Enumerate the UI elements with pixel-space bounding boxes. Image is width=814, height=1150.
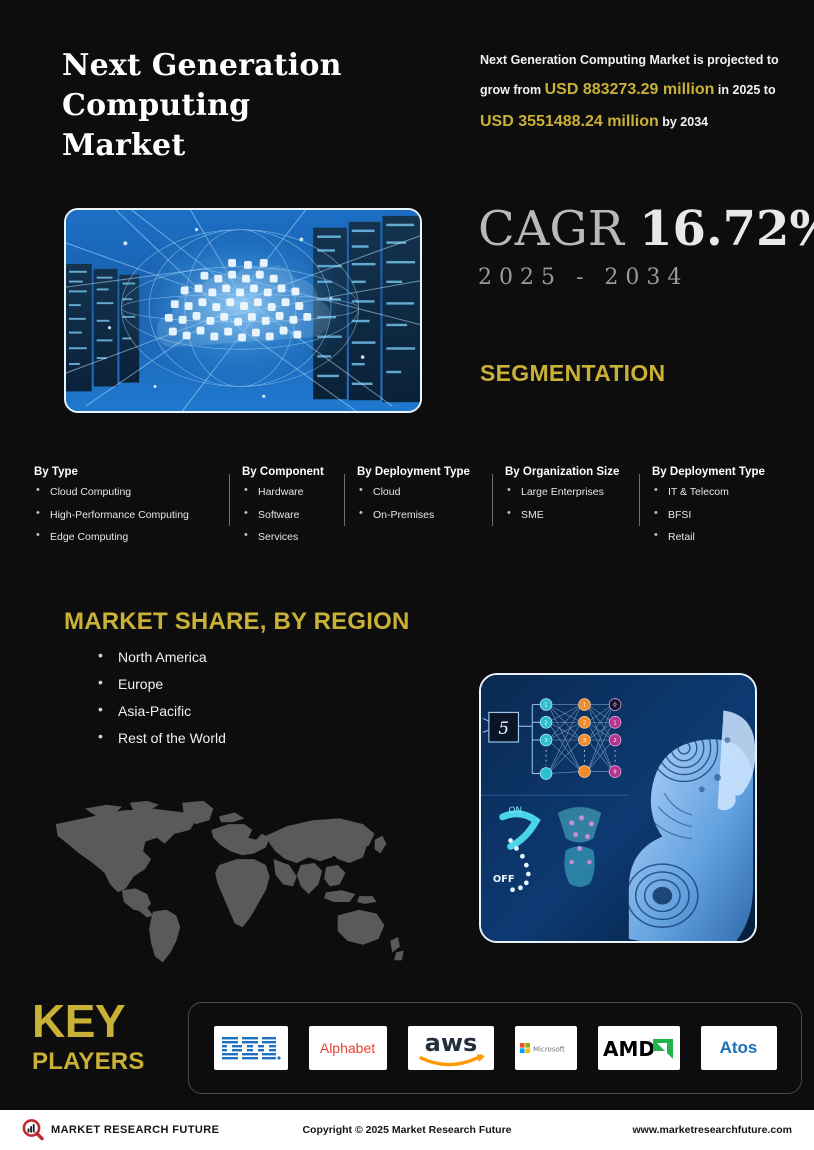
- key-players-logo-box: Alphabet aws Microsoft AMD: [188, 1002, 802, 1094]
- logo-microsoft: Microsoft: [515, 1026, 577, 1070]
- region-item: North America: [96, 650, 226, 664]
- market-summary-text: Next Generation Computing Market is proj…: [480, 48, 802, 139]
- segment-item: Retail: [652, 532, 776, 543]
- logo-alphabet: Alphabet: [309, 1026, 387, 1070]
- segment-title: By Type: [34, 466, 228, 478]
- page-title-line-3: Market: [62, 126, 442, 166]
- segment-item: Cloud: [357, 487, 491, 498]
- segmentation-columns: By Type Cloud Computing High-Performance…: [34, 466, 790, 555]
- svg-text:1: 1: [613, 720, 616, 726]
- footer-copyright: Copyright © 2025 Market Research Future: [272, 1124, 542, 1136]
- column-divider: [229, 474, 230, 526]
- cagr-value: 16.72%: [639, 201, 814, 257]
- market-research-future-logo-icon: [22, 1119, 44, 1141]
- segment-item: On-Premises: [357, 510, 491, 521]
- logo-atos-text: Atos: [720, 1038, 758, 1058]
- logo-alphabet-text: Alphabet: [320, 1040, 375, 1056]
- page-title: Next Generation Computing Market: [62, 46, 442, 166]
- region-item: Europe: [96, 677, 226, 691]
- footer-brand-text: MARKET RESEARCH FUTURE: [51, 1124, 219, 1136]
- segment-item: IT & Telecom: [652, 487, 776, 498]
- segmentation-column-by-organization-size: By Organization Size Large Enterprises S…: [505, 466, 652, 555]
- cagr-label: CAGR: [478, 201, 624, 257]
- segment-title: By Deployment Type: [357, 466, 491, 478]
- column-divider: [639, 474, 640, 526]
- cagr-year-range: 2025 - 2034: [478, 265, 808, 290]
- key-players-label-bottom: PLAYERS: [32, 1044, 172, 1080]
- ai-robot-image: 5: [479, 673, 757, 943]
- svg-text:AMD: AMD: [603, 1037, 655, 1061]
- cagr-block: CAGR 16.72% 2025 - 2034: [478, 205, 808, 290]
- logo-aws: aws: [408, 1026, 494, 1070]
- segment-item: High-Performance Computing: [34, 510, 228, 521]
- logo-ibm: [214, 1026, 288, 1070]
- svg-text:9: 9: [613, 770, 617, 776]
- summary-part-3: by 2034: [659, 115, 708, 129]
- segment-item: BFSI: [652, 510, 776, 521]
- footer-url[interactable]: www.marketresearchfuture.com: [542, 1124, 792, 1136]
- segment-item: Hardware: [242, 487, 343, 498]
- value-2025: USD 883273.29 million: [545, 81, 715, 98]
- region-list: North America Europe Asia-Pacific Rest o…: [96, 650, 226, 758]
- segment-title: By Component: [242, 466, 343, 478]
- segment-item: Cloud Computing: [34, 487, 228, 498]
- datacenter-cloud-image: [64, 208, 422, 413]
- footer: MARKET RESEARCH FUTURE Copyright © 2025 …: [0, 1110, 814, 1150]
- region-item: Asia-Pacific: [96, 704, 226, 718]
- key-players-label-top: KEY: [32, 1000, 172, 1044]
- world-map: [28, 795, 418, 970]
- segment-item: Software: [242, 510, 343, 521]
- column-divider: [344, 474, 345, 526]
- market-share-heading: MARKET SHARE, BY REGION: [64, 608, 410, 636]
- logo-atos: Atos: [701, 1026, 777, 1070]
- segmentation-column-by-component: By Component Hardware Software Services: [242, 466, 357, 555]
- svg-text:3: 3: [583, 738, 586, 744]
- page-title-line-2: Computing: [62, 86, 442, 126]
- svg-text:2: 2: [613, 738, 616, 744]
- segment-item: Large Enterprises: [505, 487, 638, 498]
- value-2034: USD 3551488.24 million: [480, 113, 659, 130]
- svg-text:Microsoft: Microsoft: [533, 1046, 565, 1054]
- summary-part-2: in 2025 to: [714, 83, 775, 97]
- svg-text:1: 1: [583, 703, 586, 709]
- segment-title: By Deployment Type: [652, 466, 776, 478]
- key-players-label: KEY PLAYERS: [32, 1000, 172, 1080]
- svg-text:ON: ON: [509, 806, 523, 816]
- segment-item: SME: [505, 510, 638, 521]
- svg-text:OFF: OFF: [493, 874, 515, 885]
- segmentation-heading: SEGMENTATION: [480, 360, 665, 387]
- svg-text:5: 5: [498, 718, 509, 738]
- region-item: Rest of the World: [96, 731, 226, 745]
- infographic-page: Next Generation Computing Market Next Ge…: [0, 0, 814, 1150]
- svg-text:aws: aws: [424, 1029, 477, 1057]
- segmentation-column-by-deployment-type: By Deployment Type Cloud On-Premises: [357, 466, 505, 555]
- segment-title: By Organization Size: [505, 466, 638, 478]
- svg-text:2: 2: [544, 720, 547, 726]
- segment-item: Edge Computing: [34, 532, 228, 543]
- segment-item: Services: [242, 532, 343, 543]
- footer-brand: MARKET RESEARCH FUTURE: [22, 1119, 272, 1141]
- svg-text:3: 3: [544, 738, 547, 744]
- svg-text:1: 1: [544, 703, 547, 709]
- page-title-line-1: Next Generation: [62, 46, 442, 86]
- svg-text:2: 2: [583, 720, 586, 726]
- column-divider: [492, 474, 493, 526]
- logo-amd: AMD: [598, 1026, 680, 1070]
- svg-text:0: 0: [613, 703, 617, 709]
- segmentation-column-by-vertical: By Deployment Type IT & Telecom BFSI Ret…: [652, 466, 790, 555]
- segmentation-column-by-type: By Type Cloud Computing High-Performance…: [34, 466, 242, 555]
